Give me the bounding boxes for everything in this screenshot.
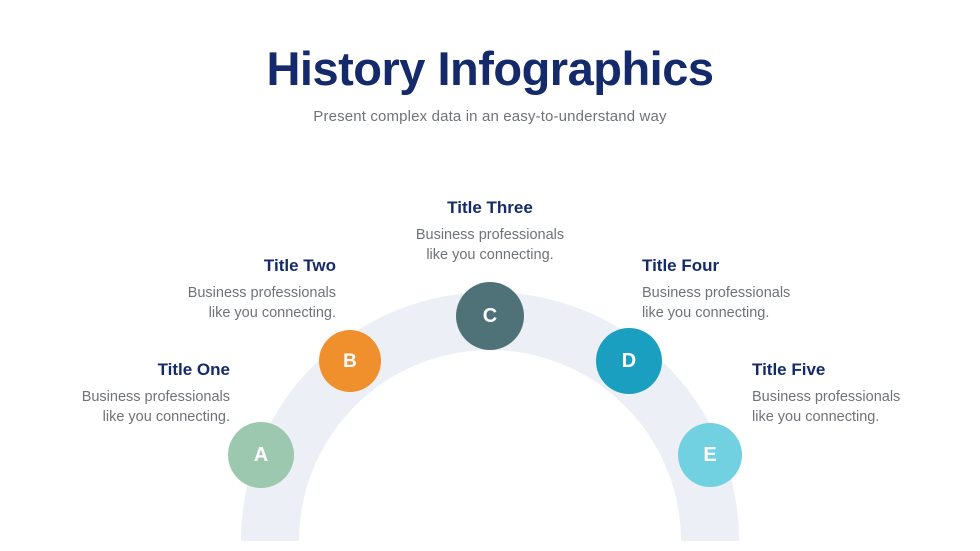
timeline-arc (0, 0, 980, 551)
step-body-b: Business professionals like you connecti… (156, 283, 336, 323)
step-letter-b: B (343, 352, 357, 371)
step-node-e[interactable]: E (678, 423, 742, 487)
step-caption-c: Title ThreeBusiness professionals like y… (398, 198, 582, 265)
step-node-a[interactable]: A (228, 422, 294, 488)
step-title-e: Title Five (752, 360, 938, 380)
infographic-slide: History Infographics Present complex dat… (0, 0, 980, 551)
step-letter-d: D (622, 351, 636, 371)
step-title-d: Title Four (642, 256, 822, 276)
step-node-d[interactable]: D (596, 328, 662, 394)
step-letter-c: C (483, 306, 497, 326)
step-letter-a: A (254, 445, 268, 465)
step-body-c: Business professionals like you connecti… (398, 225, 582, 265)
step-node-b[interactable]: B (319, 330, 381, 392)
step-title-c: Title Three (398, 198, 582, 218)
step-node-c[interactable]: C (456, 282, 524, 350)
step-caption-a: Title OneBusiness professionals like you… (50, 360, 230, 427)
step-title-a: Title One (50, 360, 230, 380)
step-caption-e: Title FiveBusiness professionals like yo… (752, 360, 938, 427)
step-body-a: Business professionals like you connecti… (50, 387, 230, 427)
step-caption-d: Title FourBusiness professionals like yo… (642, 256, 822, 323)
step-body-d: Business professionals like you connecti… (642, 283, 822, 323)
step-caption-b: Title TwoBusiness professionals like you… (156, 256, 336, 323)
step-letter-e: E (703, 445, 716, 465)
step-body-e: Business professionals like you connecti… (752, 387, 938, 427)
step-title-b: Title Two (156, 256, 336, 276)
